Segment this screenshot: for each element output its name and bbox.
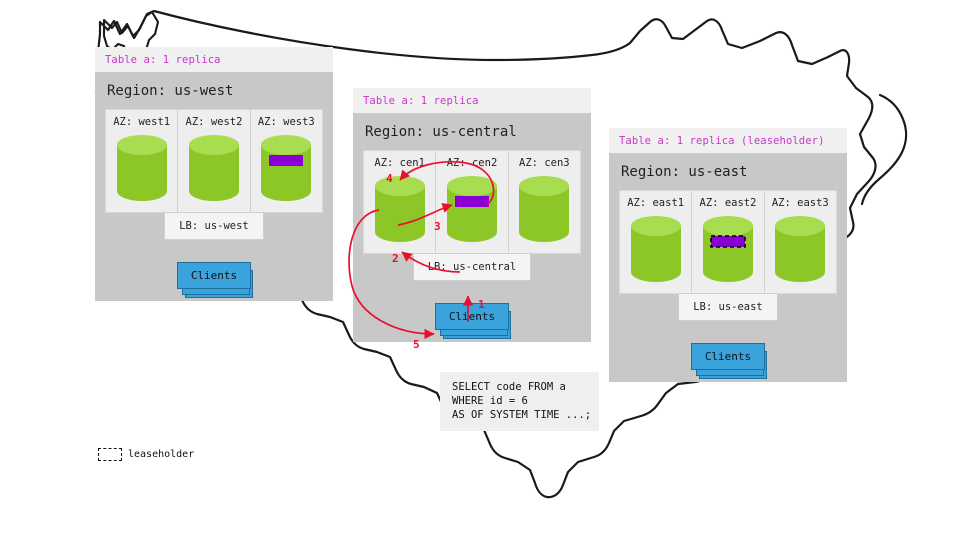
database-cylinder-icon (114, 134, 170, 202)
database-cylinder-icon (700, 215, 756, 283)
az-west1[interactable]: AZ: west1 (106, 110, 177, 212)
node-cylinder-cen3[interactable] (513, 175, 576, 243)
load-balancer-us-west[interactable]: LB: us-west (164, 212, 264, 240)
az-east3[interactable]: AZ: east3 (764, 191, 836, 293)
database-cylinder-icon (628, 215, 684, 283)
node-cylinder-east3[interactable] (769, 215, 832, 283)
database-cylinder-icon (772, 215, 828, 283)
region-title-us-west: Region: us-west (105, 72, 323, 109)
node-cylinder-cen1[interactable] (368, 175, 431, 243)
clients-label-us-east[interactable]: Clients (691, 343, 765, 370)
az-east1[interactable]: AZ: east1 (620, 191, 691, 293)
node-cylinder-west1[interactable] (110, 134, 173, 202)
az-row-us-east: AZ: east1 AZ: east2 (619, 190, 837, 294)
node-cylinder-west2[interactable] (182, 134, 245, 202)
replica-range-west3 (269, 155, 303, 166)
az-label-west2: AZ: west2 (182, 116, 245, 128)
az-label-east3: AZ: east3 (769, 197, 832, 209)
az-row-us-central: AZ: cen1 AZ: cen2 (363, 150, 581, 254)
node-cylinder-east2[interactable] (696, 215, 759, 283)
clients-label-us-west[interactable]: Clients (177, 262, 251, 289)
load-balancer-us-central[interactable]: LB: us-central (413, 253, 532, 281)
region-card-us-east: Table a: 1 replica (leaseholder) Region:… (609, 128, 847, 382)
az-label-west1: AZ: west1 (110, 116, 173, 128)
az-label-west3: AZ: west3 (255, 116, 318, 128)
leaseholder-swatch-icon (98, 448, 122, 461)
region-card-us-central: Table a: 1 replica Region: us-central AZ… (353, 88, 591, 342)
replica-range-cen2 (455, 196, 489, 207)
az-cen3[interactable]: AZ: cen3 (508, 151, 580, 253)
az-label-east2: AZ: east2 (696, 197, 759, 209)
sql-query-box: SELECT code FROM a WHERE id = 6 AS OF SY… (440, 372, 599, 431)
region-body-us-west: Region: us-west AZ: west1 AZ: west2 (95, 72, 333, 301)
database-cylinder-icon (516, 175, 572, 243)
clients-label-us-central[interactable]: Clients (435, 303, 509, 330)
az-row-us-west: AZ: west1 AZ: west2 (105, 109, 323, 213)
az-label-cen1: AZ: cen1 (368, 157, 431, 169)
diagram-canvas: Table a: 1 replica Region: us-west AZ: w… (0, 0, 960, 540)
node-cylinder-west3[interactable] (255, 134, 318, 202)
region-body-us-central: Region: us-central AZ: cen1 AZ: cen2 (353, 113, 591, 342)
az-west3[interactable]: AZ: west3 (250, 110, 322, 212)
region-header-us-central: Table a: 1 replica (353, 88, 591, 113)
az-east2[interactable]: AZ: east2 (691, 191, 763, 293)
region-title-us-central: Region: us-central (363, 113, 581, 150)
region-header-us-east: Table a: 1 replica (leaseholder) (609, 128, 847, 153)
az-cen2[interactable]: AZ: cen2 (435, 151, 507, 253)
az-label-cen3: AZ: cen3 (513, 157, 576, 169)
az-west2[interactable]: AZ: west2 (177, 110, 249, 212)
region-card-us-west: Table a: 1 replica Region: us-west AZ: w… (95, 47, 333, 301)
legend: leaseholder (98, 448, 194, 461)
region-header-us-west: Table a: 1 replica (95, 47, 333, 72)
database-cylinder-icon (372, 175, 428, 243)
database-cylinder-icon (186, 134, 242, 202)
region-body-us-east: Region: us-east AZ: east1 AZ: east2 (609, 153, 847, 382)
legend-label: leaseholder (128, 449, 194, 460)
clients-stack-us-east[interactable]: Clients (691, 343, 765, 370)
database-cylinder-icon (258, 134, 314, 202)
database-cylinder-icon (444, 175, 500, 243)
region-title-us-east: Region: us-east (619, 153, 837, 190)
az-cen1[interactable]: AZ: cen1 (364, 151, 435, 253)
node-cylinder-cen2[interactable] (440, 175, 503, 243)
az-label-cen2: AZ: cen2 (440, 157, 503, 169)
leaseholder-range-east2 (711, 236, 745, 247)
clients-stack-us-central[interactable]: Clients (435, 303, 509, 330)
clients-stack-us-west[interactable]: Clients (177, 262, 251, 289)
node-cylinder-east1[interactable] (624, 215, 687, 283)
load-balancer-us-east[interactable]: LB: us-east (678, 293, 778, 321)
az-label-east1: AZ: east1 (624, 197, 687, 209)
